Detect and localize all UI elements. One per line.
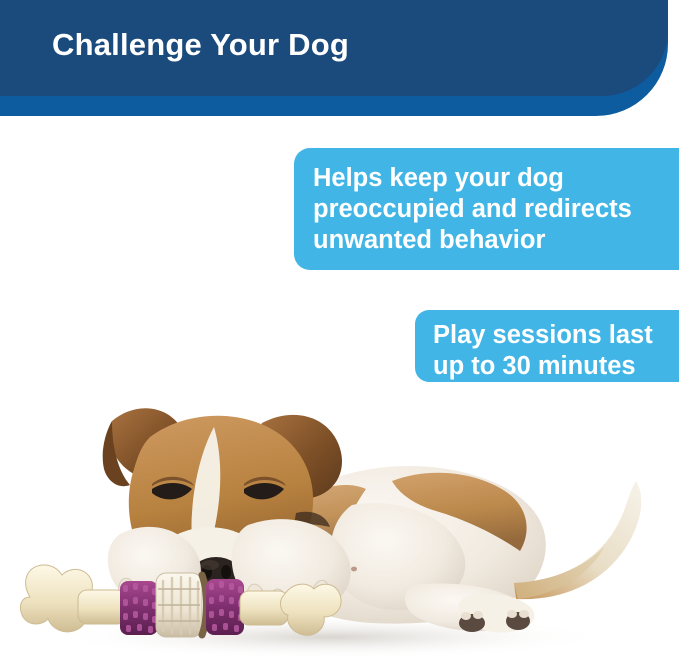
toy-bristle-ring	[206, 579, 244, 635]
page-title: Challenge Your Dog	[52, 27, 349, 63]
product-feature-graphic: Challenge Your Dog Helps keep your dog p…	[0, 0, 679, 659]
header-banner: Challenge Your Dog	[0, 0, 679, 118]
callout-benefit-preoccupied: Helps keep your dog preoccupied and redi…	[294, 148, 679, 270]
callout-benefit-play-duration: Play sessions last up to 30 minutes	[415, 310, 679, 382]
toy-brush-center	[156, 573, 202, 637]
callout-line: Play sessions last	[433, 320, 679, 351]
callout-line: preoccupied and redirects	[313, 194, 679, 225]
callout-line: unwanted behavior	[313, 225, 679, 256]
callout-line: Helps keep your dog	[313, 163, 679, 194]
product-photo-dog-with-toy	[0, 385, 679, 659]
callout-line: up to 30 minutes	[433, 351, 679, 382]
toy-bristle-ring	[120, 581, 158, 635]
